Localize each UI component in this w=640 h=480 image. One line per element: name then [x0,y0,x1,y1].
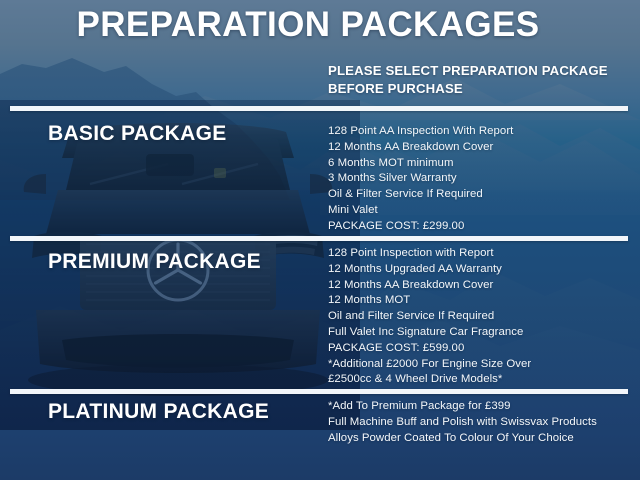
instruction-line-1: PLEASE SELECT PREPARATION PACKAGE [328,62,628,80]
package-cost-premium: PACKAGE COST: £599.00 [328,341,628,357]
list-item: Full Valet Inc Signature Car Fragrance [328,325,628,341]
preparation-packages-poster: PREPARATION PACKAGES PLEASE SELECT PREPA… [0,0,640,480]
selection-instruction: PLEASE SELECT PREPARATION PACKAGE BEFORE… [328,62,628,98]
list-item: 12 Months AA Breakdown Cover [328,278,628,294]
list-item: Alloys Powder Coated To Colour Of Your C… [328,431,628,447]
list-item: 128 Point AA Inspection With Report [328,124,628,140]
divider-above-basic [10,106,628,111]
package-features-platinum: *Add To Premium Package for £399 Full Ma… [328,399,628,446]
list-item: Oil & Filter Service If Required [328,187,628,203]
list-item: Mini Valet [328,203,628,219]
package-title-premium[interactable]: PREMIUM PACKAGE [48,250,261,274]
poster-content: PREPARATION PACKAGES PLEASE SELECT PREPA… [0,0,640,480]
package-title-basic[interactable]: BASIC PACKAGE [48,122,227,146]
platinum-addon-price: *Add To Premium Package for £399 [328,399,628,415]
list-item: 12 Months MOT [328,293,628,309]
list-item: 6 Months MOT minimum [328,156,628,172]
premium-surcharge-note-line-2: £2500cc & 4 Wheel Drive Models* [328,372,628,388]
list-item: Full Machine Buff and Polish with Swissv… [328,415,628,431]
instruction-line-2: BEFORE PURCHASE [328,80,628,98]
list-item: Oil and Filter Service If Required [328,309,628,325]
package-title-platinum[interactable]: PLATINUM PACKAGE [48,400,269,424]
divider-above-premium [10,236,628,241]
package-features-basic: 128 Point AA Inspection With Report 12 M… [328,124,628,235]
page-title: PREPARATION PACKAGES [0,7,628,44]
list-item: 3 Months Silver Warranty [328,171,628,187]
list-item: 128 Point Inspection with Report [328,246,628,262]
divider-above-platinum [10,389,628,394]
list-item: 12 Months AA Breakdown Cover [328,140,628,156]
package-cost-basic: PACKAGE COST: £299.00 [328,219,628,235]
list-item: 12 Months Upgraded AA Warranty [328,262,628,278]
package-features-premium: 128 Point Inspection with Report 12 Mont… [328,246,628,388]
premium-surcharge-note-line-1: *Additional £2000 For Engine Size Over [328,357,628,373]
